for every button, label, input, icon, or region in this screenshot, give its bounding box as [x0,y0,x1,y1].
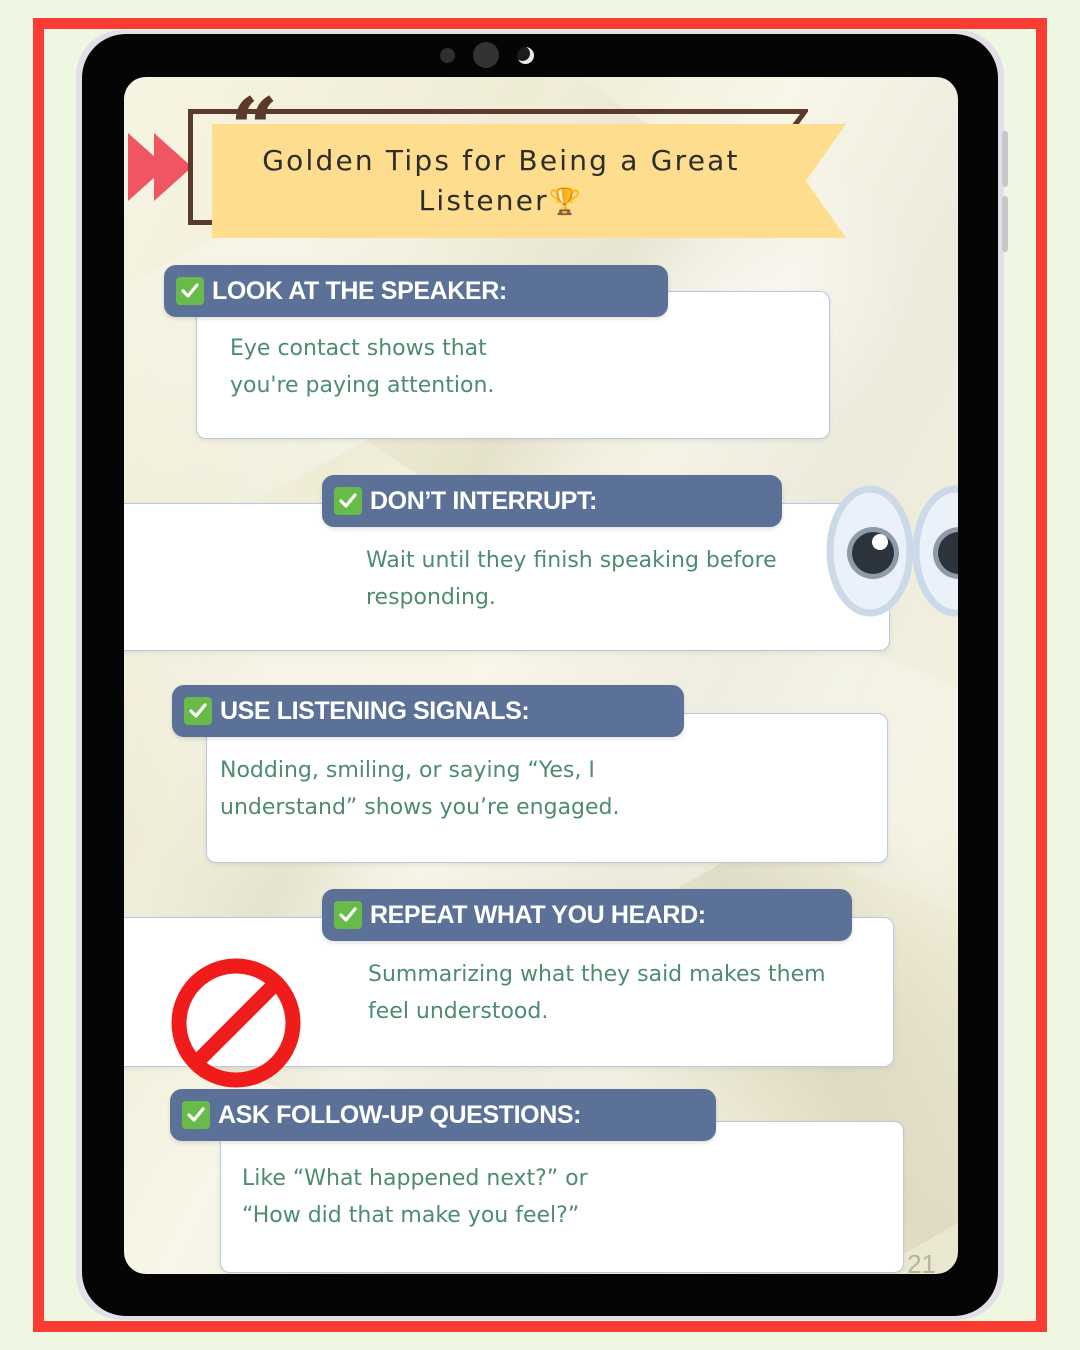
checkmark-icon [334,901,362,929]
page-title: Golden Tips for Being a Great Listener🏆 [212,141,790,221]
tip-header[interactable]: USE LISTENING SIGNALS: [172,685,684,737]
eyes-icon [824,471,958,631]
tip-body-line-1: Like “What happened next?” or [242,1161,588,1198]
tip-title: USE LISTENING SIGNALS: [220,697,529,726]
tip-row-ask-follow-up-questions: ASK FOLLOW-UP QUESTIONS: Like “What happ… [124,1089,958,1274]
tip-body-line-1: Summarizing what they said makes them [368,957,826,994]
proximity-sensor-dot [440,48,455,63]
tip-row-use-listening-signals: USE LISTENING SIGNALS: Nodding, smiling,… [124,685,958,865]
title-line-1: Golden Tips for Being a [262,144,639,177]
tip-body: Summarizing what they said makes them fe… [368,957,826,1031]
tip-body-line-1: Eye contact shows that [230,331,494,368]
tip-body-line-2: responding. [366,580,777,617]
sensor-row [440,42,570,68]
tip-body: Nodding, smiling, or saying “Yes, I unde… [220,753,620,827]
page-canvas: “ Golden Tips for Being a Great Listener… [0,0,1080,1350]
tip-header[interactable]: REPEAT WHAT YOU HEARD: [322,889,852,941]
page-number: 21 [907,1249,936,1274]
tip-body-line-1: Wait until they finish speaking before [366,543,777,580]
checkmark-icon [182,1101,210,1129]
tablet-screen[interactable]: “ Golden Tips for Being a Great Listener… [124,77,958,1274]
checkmark-icon [184,697,212,725]
no-entry-icon [166,953,306,1093]
tip-body: Eye contact shows that you're paying att… [230,331,494,405]
poster-title-block: “ Golden Tips for Being a Great Listener… [124,89,958,259]
tip-body: Wait until they finish speaking before r… [366,543,777,617]
tip-body-line-1: Nodding, smiling, or saying “Yes, I [220,753,620,790]
checkmark-icon [334,487,362,515]
tip-row-look-at-the-speaker: LOOK AT THE SPEAKER: Eye contact shows t… [124,265,958,445]
tip-title: REPEAT WHAT YOU HEARD: [370,901,706,930]
tip-body-line-2: you're paying attention. [230,368,494,405]
tip-title: DON’T INTERRUPT: [370,487,597,516]
checkmark-icon [176,277,204,305]
volume-up-button[interactable] [1002,131,1008,187]
front-camera-dot [473,42,499,68]
title-banner-tail [790,124,846,238]
tip-header[interactable]: ASK FOLLOW-UP QUESTIONS: [170,1089,716,1141]
tip-title: LOOK AT THE SPEAKER: [212,277,507,306]
tip-body-line-2: understand” shows you’re engaged. [220,790,620,827]
tip-body-line-2: feel understood. [368,994,826,1031]
tip-body-line-2: “How did that make you feel?” [242,1198,588,1235]
trophy-icon: 🏆 [549,187,584,217]
title-banner: Golden Tips for Being a Great Listener🏆 [212,124,790,238]
volume-down-button[interactable] [1002,196,1008,252]
chevron-right-icon [128,133,192,201]
ambient-light-dot [517,47,534,64]
tip-header[interactable]: DON’T INTERRUPT: [322,475,782,527]
tip-header[interactable]: LOOK AT THE SPEAKER: [164,265,668,317]
tip-title: ASK FOLLOW-UP QUESTIONS: [218,1101,581,1130]
tip-body: Like “What happened next?” or “How did t… [242,1161,588,1235]
